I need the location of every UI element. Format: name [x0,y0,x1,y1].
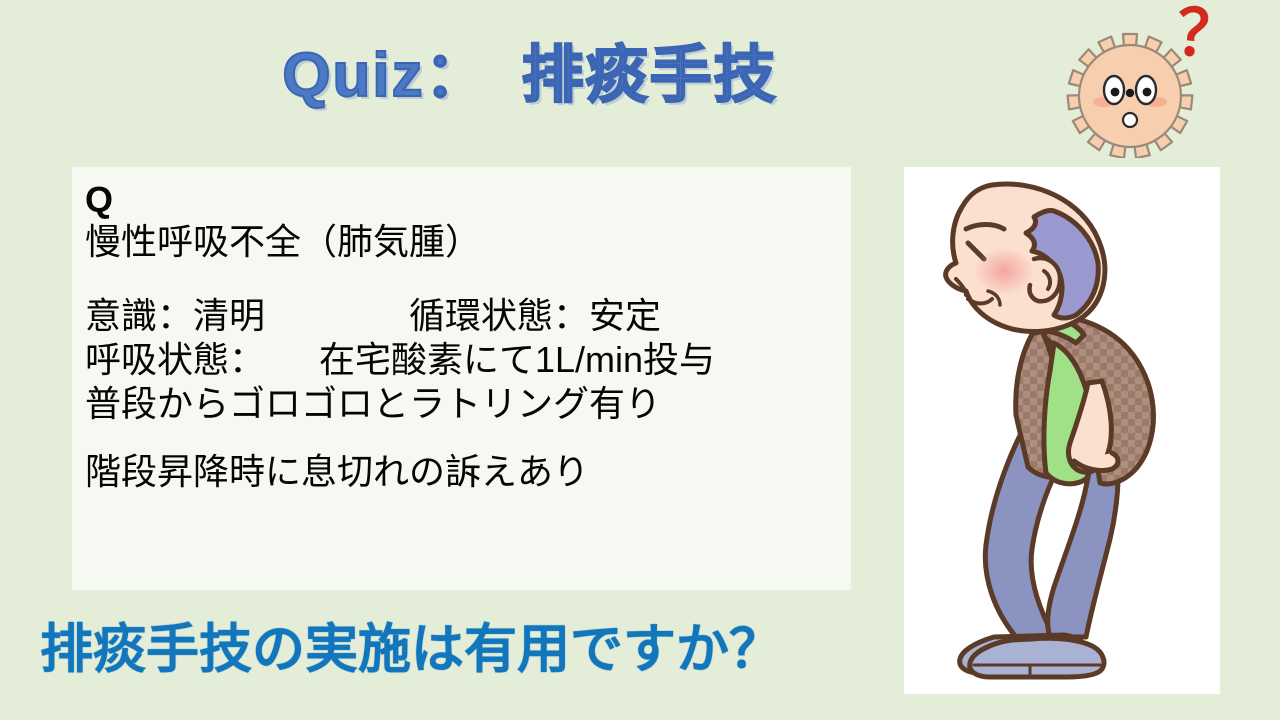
symptom-line: 階段昇降時に息切れの訴えあり [85,450,841,494]
question-panel: Q 慢性呼吸不全（肺気腫） 意識：清明 循環状態：安定 呼吸状態： 在宅酸素にて… [72,167,851,590]
spacer [85,264,841,294]
illustration-panel [904,167,1220,694]
vitals-line-respiration: 呼吸状態： 在宅酸素にて1L/min投与 [85,338,841,382]
elderly-man-illustration [904,167,1220,694]
page-title: Quiz： 排痰手技 [0,42,1060,110]
slide-canvas: Quiz： 排痰手技 [0,0,1280,720]
vitals-line-rattling: 普段からゴロゴロとラトリング有り [85,382,841,426]
headline-question: 排痰手技の実施は有用ですか？ [40,607,782,683]
question-label: Q [85,179,841,220]
diagnosis-line: 慢性呼吸不全（肺気腫） [85,220,841,264]
spacer-2 [85,426,841,450]
page-title-text: Quiz： 排痰手技 [282,42,777,110]
question-mark-icon: ？ [1173,1,1243,71]
vitals-line-consciousness: 意識：清明 循環状態：安定 [85,294,841,338]
